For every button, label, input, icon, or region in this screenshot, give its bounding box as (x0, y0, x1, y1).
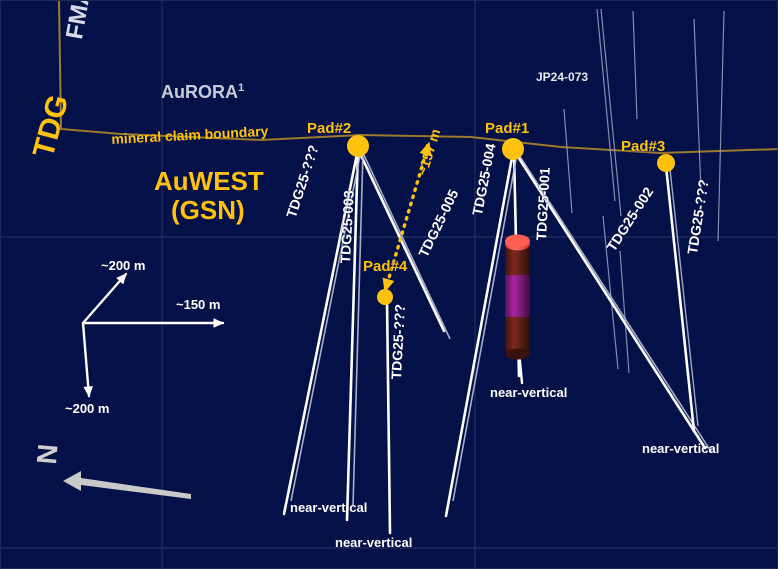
drill-plan-map: FMAR AuRORA1 TDG AuWEST (GSN) mineral cl… (0, 0, 778, 569)
core-log-tdg25-001 (505, 235, 530, 360)
pad1-drill-traces (446, 152, 705, 516)
pad2-drill-traces (284, 149, 444, 520)
pad-marker-pad-1[interactable] (502, 138, 524, 160)
mineral-claim-boundary-line (59, 1, 778, 153)
pad-marker-pad-4[interactable] (377, 289, 393, 305)
pad-marker-pad-2[interactable] (347, 135, 369, 157)
scale-arrow-up (83, 274, 126, 323)
pad3-drill-trace (666, 166, 698, 431)
map-canvas (1, 1, 778, 569)
scale-arrow-down (83, 323, 89, 396)
trace-tdg25-003 (347, 149, 358, 520)
pad-marker-pad-3[interactable] (657, 154, 675, 172)
pad2-drill-traces-shadow (291, 151, 450, 506)
trace-tdg25-002 (515, 152, 705, 448)
scale-bar (83, 274, 223, 396)
trace-tdg25-unk-west (284, 149, 358, 514)
trace-tdg25-004 (446, 152, 513, 516)
distance-annotation-157m (385, 143, 429, 291)
north-arrow (63, 471, 191, 499)
historic-drill-traces (564, 9, 724, 373)
pad1-drill-traces-shadow (453, 154, 712, 501)
pad4-drill-trace (387, 301, 390, 533)
